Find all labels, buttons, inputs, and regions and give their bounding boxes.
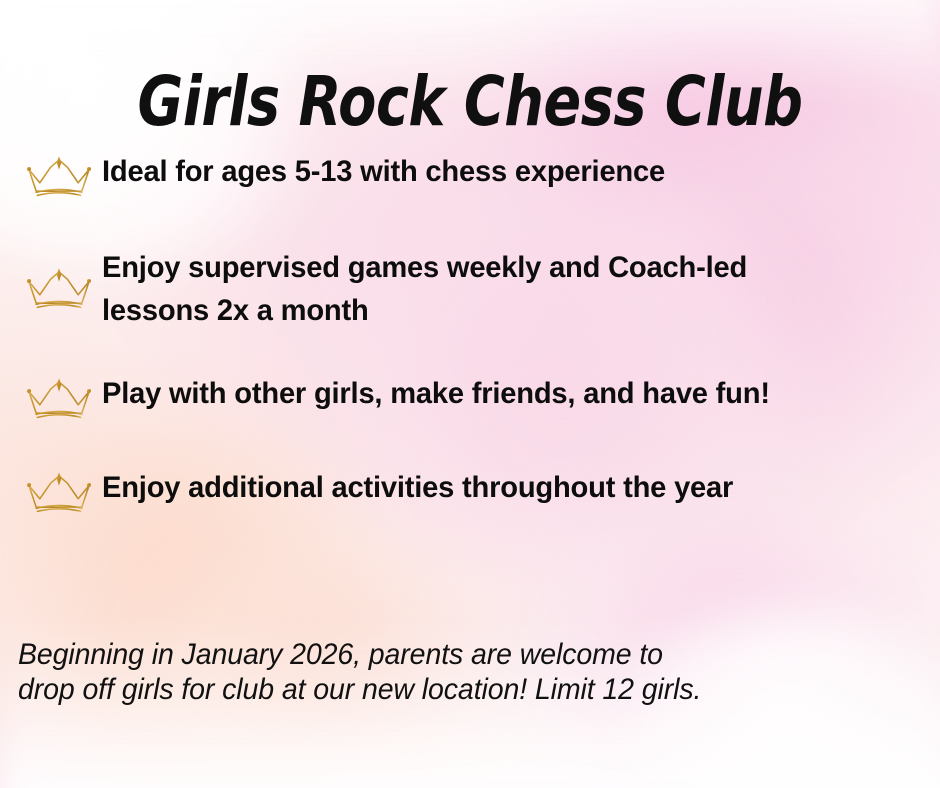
- crown-icon: [23, 266, 95, 314]
- footer-note-line-1: Beginning in January 2026, parents are w…: [18, 638, 873, 673]
- bullet-marker: [16, 246, 102, 314]
- list-item-line: Enjoy additional activities throughout t…: [102, 471, 733, 504]
- footer-note-line-2: drop off girls for club at our new locat…: [18, 673, 873, 708]
- footer-note: Beginning in January 2026, parents are w…: [18, 638, 873, 708]
- list-item-text: Enjoy supervised games weekly and Coach-…: [102, 246, 897, 332]
- feature-bullet-list: Ideal for ages 5-13 with chess experienc…: [16, 150, 922, 518]
- list-item: Ideal for ages 5-13 with chess experienc…: [16, 150, 922, 202]
- bullet-marker: [16, 150, 102, 202]
- list-item-line: lessons 2x a month: [102, 289, 897, 332]
- bullet-marker: [16, 466, 102, 518]
- list-item: Enjoy additional activities throughout t…: [16, 466, 922, 518]
- flyer-content: Girls Rock Chess Club: [0, 0, 940, 788]
- list-item: Play with other girls, make friends, and…: [16, 372, 922, 424]
- flyer-canvas: Girls Rock Chess Club: [0, 0, 940, 788]
- list-item-line: Enjoy supervised games weekly and Coach-…: [102, 246, 897, 289]
- crown-icon: [23, 470, 95, 518]
- list-item-line: Play with other girls, make friends, and…: [102, 377, 770, 410]
- crown-icon: [23, 376, 95, 424]
- list-item: Enjoy supervised games weekly and Coach-…: [16, 246, 922, 332]
- list-item-text: Play with other girls, make friends, and…: [102, 372, 897, 415]
- flyer-title: Girls Rock Chess Club: [19, 67, 921, 135]
- list-item-text: Ideal for ages 5-13 with chess experienc…: [102, 150, 897, 193]
- list-item-text: Enjoy additional activities throughout t…: [102, 466, 897, 509]
- crown-icon: [23, 154, 95, 202]
- bullet-marker: [16, 372, 102, 424]
- list-item-line: Ideal for ages 5-13 with chess experienc…: [102, 155, 665, 188]
